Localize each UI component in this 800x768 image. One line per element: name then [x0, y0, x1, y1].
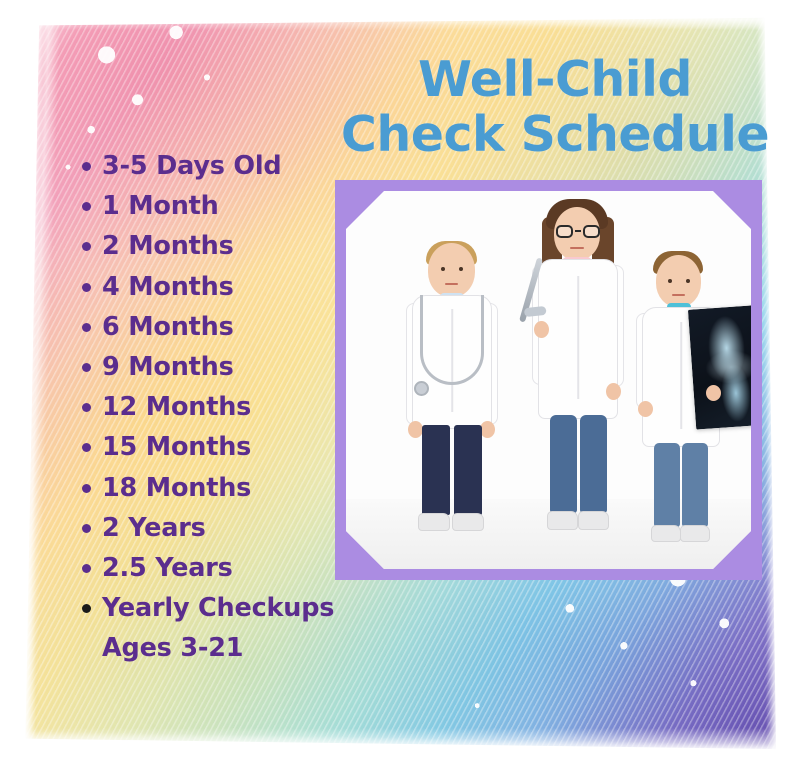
lens-left — [556, 225, 573, 238]
list-item: 6 Months — [74, 307, 364, 347]
sneaker-right — [578, 511, 609, 530]
list-item: 18 Months — [74, 468, 364, 508]
jeans-leg-left — [654, 443, 680, 527]
lens-right — [583, 225, 600, 238]
sneaker-left — [651, 525, 681, 542]
sneaker-right — [452, 513, 484, 531]
eye-left — [441, 267, 445, 271]
list-item: 12 Months — [74, 387, 364, 427]
trouser-leg-right — [454, 425, 482, 515]
child-girl-with-reflex-hammer — [518, 203, 638, 543]
list-item: 3-5 Days Old — [74, 146, 364, 186]
photo-frame — [335, 180, 762, 580]
eye-left — [668, 279, 672, 283]
list-item: 1 Month — [74, 186, 364, 226]
list-item: 9 Months — [74, 347, 364, 387]
eye-right — [686, 279, 690, 283]
list-item: Yearly Checkups Ages 3-21 — [74, 588, 364, 668]
jeans-leg-right — [580, 415, 607, 513]
head — [656, 255, 701, 307]
list-item: 2 Years — [74, 508, 364, 548]
hand-left — [638, 401, 653, 417]
mouth — [672, 294, 685, 296]
hand-right — [606, 383, 621, 400]
jeans-leg-right — [682, 443, 708, 527]
eyeglasses-icon — [556, 225, 600, 238]
head — [428, 243, 475, 297]
hand-left — [408, 421, 423, 438]
xray-film-icon — [688, 304, 751, 429]
sneaker-left — [547, 511, 578, 530]
child-boy-with-stethoscope — [398, 243, 506, 543]
well-child-schedule-list: 3-5 Days Old 1 Month 2 Months 4 Months 6… — [74, 146, 364, 669]
hand-right — [480, 421, 495, 438]
sneaker-left — [418, 513, 450, 531]
page-title: Well-Child Check Schedule — [330, 52, 780, 162]
stethoscope-bell-icon — [414, 381, 429, 396]
title-line-2: Check Schedule — [330, 107, 780, 162]
list-item: 2.5 Years — [74, 548, 364, 588]
list-item: 4 Months — [74, 267, 364, 307]
photo-children-doctors — [346, 191, 751, 569]
hand-right — [706, 385, 721, 401]
hand-left — [534, 321, 549, 338]
poster-canvas: Well-Child Check Schedule 3-5 Days Old 1… — [0, 0, 800, 768]
glasses-bridge — [575, 230, 581, 232]
trouser-leg-left — [422, 425, 450, 515]
eye-right — [459, 267, 463, 271]
stethoscope-icon — [420, 295, 484, 385]
child-boy-with-xray — [634, 249, 751, 543]
mouth — [445, 283, 458, 285]
sneaker-right — [680, 525, 710, 542]
list-item: 15 Months — [74, 427, 364, 467]
jeans-leg-left — [550, 415, 577, 513]
title-line-1: Well-Child — [330, 52, 780, 107]
list-item: 2 Months — [74, 226, 364, 266]
mouth — [570, 247, 584, 249]
